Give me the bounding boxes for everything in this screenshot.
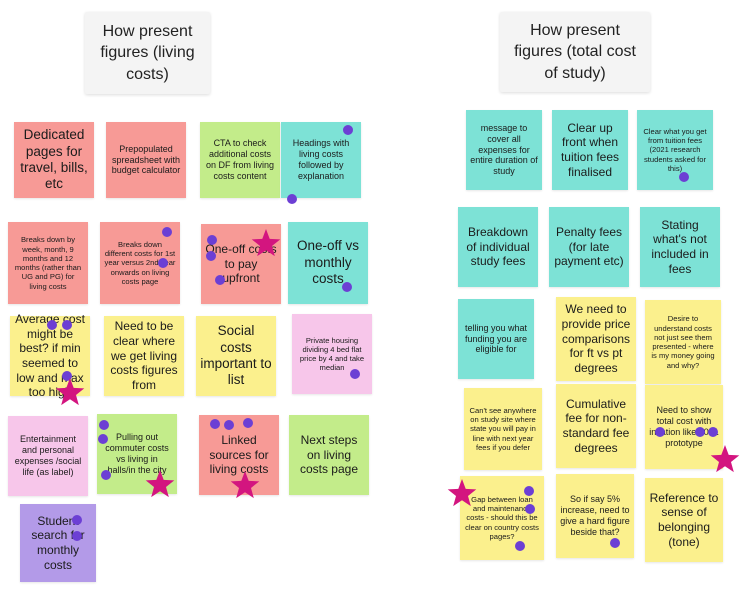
sticky-note-text: Next steps on living costs page — [293, 433, 365, 477]
sticky-note[interactable]: Desire to understand costs not just see … — [645, 300, 721, 384]
sticky-note-text: Breakdown of individual study fees — [462, 225, 534, 269]
vote-dot-icon[interactable] — [655, 427, 665, 437]
sticky-note-text: message to cover all expenses for entire… — [470, 123, 538, 178]
vote-dot-icon[interactable] — [62, 320, 72, 330]
sticky-note[interactable]: Stating what's not included in fees — [640, 207, 720, 287]
sticky-note[interactable]: Breakdown of individual study fees — [458, 207, 538, 287]
vote-dot-icon[interactable] — [243, 418, 253, 428]
vote-dot-icon[interactable] — [525, 504, 535, 514]
sticky-note-text: One-off vs monthly costs — [292, 238, 364, 287]
vote-dot-icon[interactable] — [162, 227, 172, 237]
vote-dot-icon[interactable] — [158, 258, 168, 268]
vote-dot-icon[interactable] — [515, 541, 525, 551]
vote-dot-icon[interactable] — [98, 434, 108, 444]
vote-dot-icon[interactable] — [287, 194, 297, 204]
sticky-note[interactable]: Social costs important to list — [196, 316, 276, 396]
sticky-note-text: Clear up front when tuition fees finalis… — [556, 121, 624, 180]
sticky-note-text: Headings with living costs followed by e… — [285, 138, 357, 182]
sticky-note-text: CTA to check additional costs on DF from… — [204, 138, 276, 182]
sticky-note-text: We need to provide price comparisons for… — [560, 302, 632, 375]
vote-dot-icon[interactable] — [679, 172, 689, 182]
sticky-note-text: Clear what you get from tuition fees (20… — [641, 127, 709, 173]
vote-dot-icon[interactable] — [72, 515, 82, 525]
sticky-note-text: Cumulative fee for non-standard fee degr… — [560, 397, 632, 456]
sticky-note[interactable]: We need to provide price comparisons for… — [556, 297, 636, 381]
sticky-note[interactable]: Clear what you get from tuition fees (20… — [637, 110, 713, 190]
star-marker-icon[interactable] — [251, 229, 281, 259]
column-header-total-cost-of-study: How present figures (total cost of study… — [500, 12, 650, 92]
vote-dot-icon[interactable] — [695, 427, 705, 437]
sticky-note[interactable]: Clear up front when tuition fees finalis… — [552, 110, 628, 190]
sticky-note-text: Dedicated pages for travel, bills, etc — [18, 127, 90, 193]
column-header-living-costs: How present figures (living costs) — [85, 12, 210, 94]
sticky-note[interactable]: Average cost might be best? if min seeme… — [10, 316, 90, 396]
sticky-note-text: Breaks down by week, month, 9 months and… — [12, 235, 84, 291]
vote-dot-icon[interactable] — [210, 419, 220, 429]
sticky-note[interactable]: Penalty fees (for late payment etc) — [549, 207, 629, 287]
vote-dot-icon[interactable] — [215, 275, 225, 285]
star-marker-icon[interactable] — [710, 445, 740, 475]
star-marker-icon[interactable] — [230, 471, 260, 501]
sticky-note-text: Need to be clear where we get living cos… — [108, 319, 180, 392]
sticky-note-text: So if say 5% increase, need to give a ha… — [560, 494, 630, 538]
column-header-label: How present figures (living costs) — [93, 21, 202, 84]
sticky-note-text: Stating what's not included in fees — [644, 218, 716, 277]
vote-dot-icon[interactable] — [610, 538, 620, 548]
sticky-note[interactable]: Linked sources for living costs — [199, 415, 279, 495]
sticky-note[interactable]: Cumulative fee for non-standard fee degr… — [556, 384, 636, 468]
sticky-note-text: telling you what funding you are eligibl… — [462, 323, 530, 356]
sticky-note[interactable]: Gap between loan and maintenance costs -… — [460, 476, 544, 560]
sticky-note[interactable]: Pulling out commuter costs vs living in … — [97, 414, 177, 494]
sticky-note-text: Prepopulated spreadsheet with budget cal… — [110, 144, 182, 177]
sticky-note[interactable]: Breaks down by week, month, 9 months and… — [8, 222, 88, 304]
vote-dot-icon[interactable] — [343, 125, 353, 135]
sticky-note[interactable]: Can't see anywhere on study site where s… — [464, 388, 542, 470]
sticky-note[interactable]: Prepopulated spreadsheet with budget cal… — [106, 122, 186, 198]
vote-dot-icon[interactable] — [524, 486, 534, 496]
sticky-note[interactable]: Private housing dividing 4 bed flat pric… — [292, 314, 372, 394]
vote-dot-icon[interactable] — [207, 235, 217, 245]
sticky-note-text: Private housing dividing 4 bed flat pric… — [296, 336, 368, 373]
sticky-note[interactable]: One-off vs monthly costs — [288, 222, 368, 304]
star-marker-icon[interactable] — [55, 378, 85, 408]
sticky-note[interactable]: message to cover all expenses for entire… — [466, 110, 542, 190]
sticky-note-text: Entertainment and personal expenses /soc… — [12, 434, 84, 478]
column-header-label: How present figures (total cost of study… — [508, 20, 642, 83]
sticky-note-text: Reference to sense of belonging (tone) — [649, 491, 719, 550]
sticky-note[interactable]: Need to show total cost with inflation l… — [645, 385, 723, 469]
star-marker-icon[interactable] — [447, 479, 477, 509]
vote-dot-icon[interactable] — [350, 369, 360, 379]
vote-dot-icon[interactable] — [206, 251, 216, 261]
vote-dot-icon[interactable] — [72, 531, 82, 541]
sticky-note[interactable]: Need to be clear where we get living cos… — [104, 316, 184, 396]
sticky-note-text: Can't see anywhere on study site where s… — [468, 406, 538, 452]
star-marker-icon[interactable] — [145, 470, 175, 500]
sticky-note[interactable]: Student search for monthly costs — [20, 504, 96, 582]
sticky-note-text: Social costs important to list — [200, 323, 272, 389]
sticky-note[interactable]: Next steps on living costs page — [289, 415, 369, 495]
sticky-note-text: Desire to understand costs not just see … — [649, 314, 717, 370]
sticky-note[interactable]: CTA to check additional costs on DF from… — [200, 122, 280, 198]
sticky-note[interactable]: Reference to sense of belonging (tone) — [645, 478, 723, 562]
sticky-note[interactable]: Entertainment and personal expenses /soc… — [8, 416, 88, 496]
vote-dot-icon[interactable] — [342, 282, 352, 292]
sticky-note-text: Penalty fees (for late payment etc) — [553, 225, 625, 269]
vote-dot-icon[interactable] — [101, 470, 111, 480]
vote-dot-icon[interactable] — [47, 320, 57, 330]
sticky-note[interactable]: So if say 5% increase, need to give a ha… — [556, 474, 634, 558]
sticky-note[interactable]: Breaks down different costs for 1st year… — [100, 222, 180, 304]
sticky-note[interactable]: Dedicated pages for travel, bills, etc — [14, 122, 94, 198]
sticky-note-board: How present figures (living costs)How pr… — [0, 0, 752, 592]
sticky-note[interactable]: One-off costs to pay upfront — [201, 224, 281, 304]
sticky-note-text: Student search for monthly costs — [24, 514, 92, 573]
sticky-note[interactable]: telling you what funding you are eligibl… — [458, 299, 534, 379]
vote-dot-icon[interactable] — [708, 427, 718, 437]
sticky-note[interactable]: Headings with living costs followed by e… — [281, 122, 361, 198]
vote-dot-icon[interactable] — [99, 420, 109, 430]
vote-dot-icon[interactable] — [224, 420, 234, 430]
